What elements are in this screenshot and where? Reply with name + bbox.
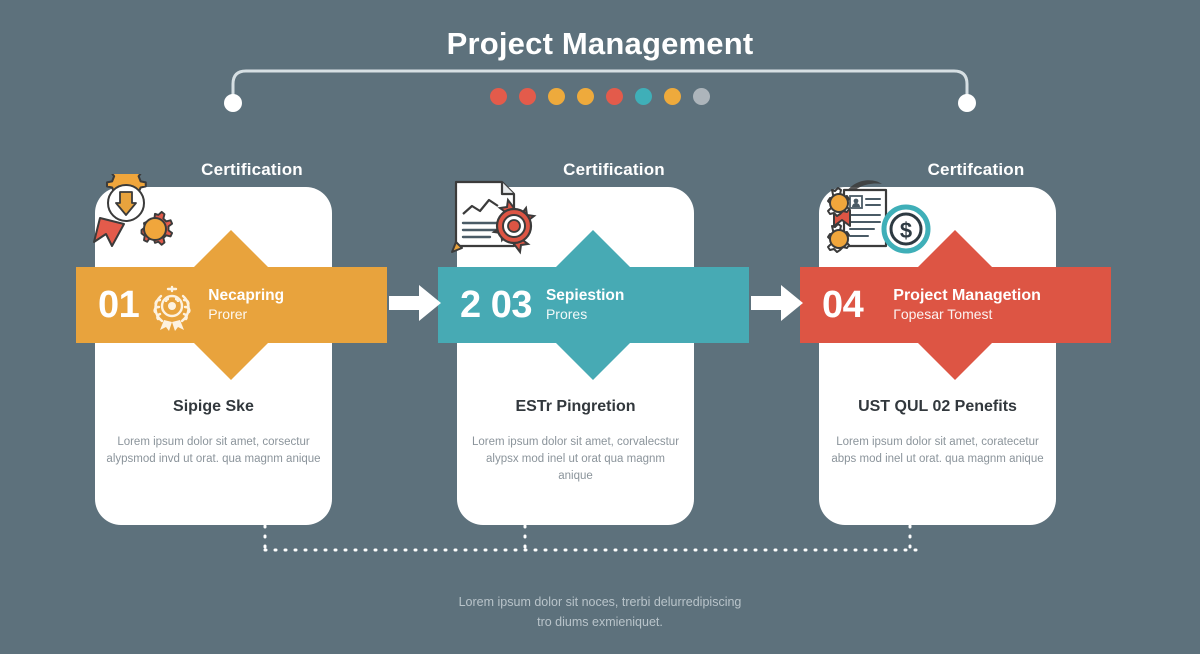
- footer-line-2: tro diums exmieniquet.: [0, 612, 1200, 632]
- dot-8: [693, 88, 710, 105]
- dot-1: [490, 88, 507, 105]
- legend-dots: [0, 88, 1200, 105]
- laurel-award-icon: [145, 278, 199, 332]
- card-1-heading: Sipige Ske: [95, 398, 332, 416]
- card-1-body: Lorem ipsum dolor sit amet, corsectur al…: [106, 434, 321, 468]
- bottom-dotted-bracket: [255, 524, 925, 560]
- dot-5: [606, 88, 623, 105]
- infographic-canvas: Project Management Certification Certifi…: [0, 0, 1200, 654]
- dot-2: [519, 88, 536, 105]
- svg-text:$: $: [900, 218, 912, 243]
- card-3-body: Lorem ipsum dolor sit amet, coratecetur …: [830, 434, 1045, 468]
- card-3-banner-line2: Гopesar Tomest: [893, 305, 1041, 324]
- page-title: Project Management: [0, 26, 1200, 62]
- arrow-step-2-to-3: [751, 283, 803, 323]
- card-2-body: Lorem ipsum dolor sit amet, corvalecstur…: [468, 434, 683, 485]
- card-3-heading: UST QUL 02 Penefits: [819, 398, 1056, 416]
- top-bracket: [220, 58, 980, 114]
- footer-text: Lorem ipsum dolor sit noces, trerbi delu…: [0, 592, 1200, 632]
- card-1-banner-line2: Prorer: [208, 305, 284, 324]
- document-target-icon: [450, 176, 550, 262]
- card-2-banner-line1: Sepiestion: [546, 286, 624, 305]
- dot-7: [664, 88, 681, 105]
- card-1-number: 01: [98, 284, 139, 327]
- card-3-banner-text: Project Managetion Гopesar Tomest: [893, 286, 1041, 324]
- card-2-heading: ESTr Pingretion: [457, 398, 694, 416]
- card-3-banner-line1: Project Managetion: [893, 286, 1041, 305]
- card-2-number: 2 03: [460, 284, 532, 327]
- card-2-banner-line2: Prores: [546, 305, 624, 324]
- card-2-banner-text: Sepiestion Prores: [546, 286, 624, 324]
- dot-3: [548, 88, 565, 105]
- footer-line-1: Lorem ipsum dolor sit noces, trerbi delu…: [0, 592, 1200, 612]
- gears-ribbon-badge-icon: [88, 174, 186, 258]
- certificate-coin-gears-icon: $: [812, 176, 934, 260]
- card-1-banner-text: Necapring Prorer: [208, 286, 284, 324]
- dot-6: [635, 88, 652, 105]
- dot-4: [577, 88, 594, 105]
- arrow-step-1-to-2: [389, 283, 441, 323]
- card-1-banner-line1: Necapring: [208, 286, 284, 305]
- card-3-number: 04: [822, 284, 863, 327]
